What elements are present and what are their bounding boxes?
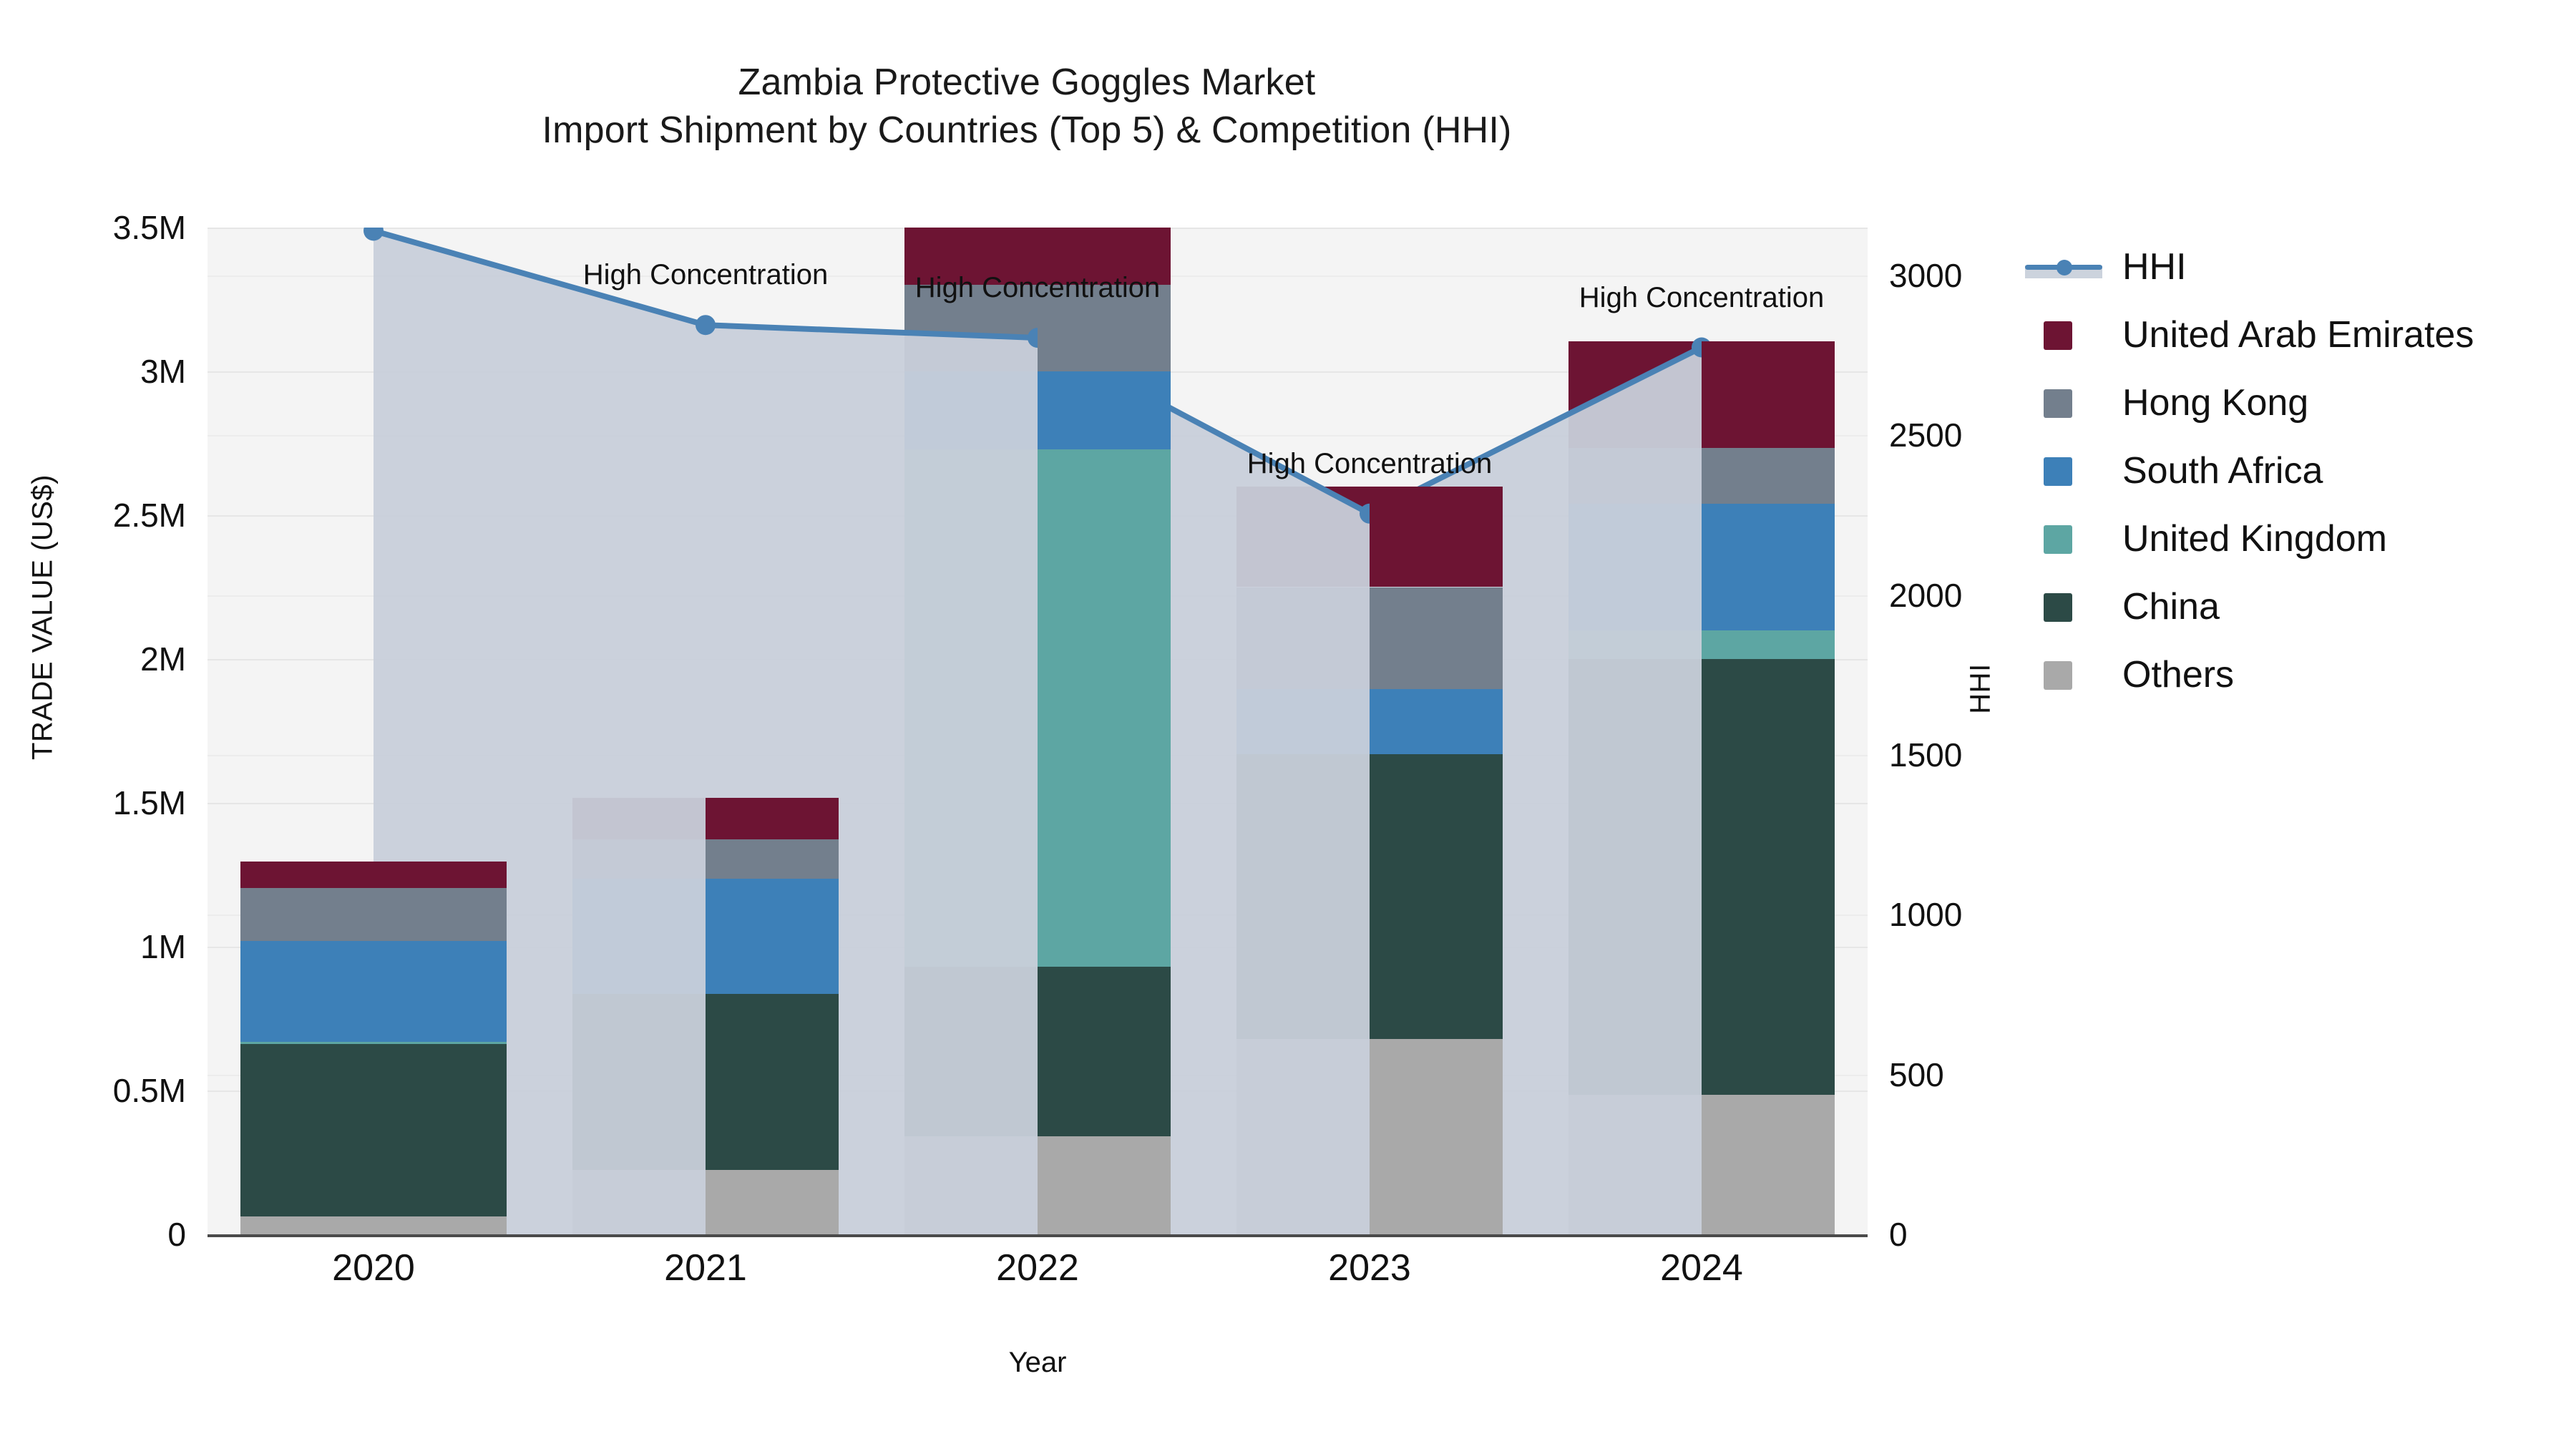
bar-segment-south-africa[interactable] xyxy=(1370,689,1503,753)
y-left-tick: 1.5M xyxy=(113,784,186,822)
legend-item-united-arab-emirates[interactable]: United Arab Emirates xyxy=(2025,301,2569,369)
legend-color-swatch-icon xyxy=(2025,383,2102,423)
y-right-tick: 2000 xyxy=(1889,576,1962,615)
y-left-tick: 2M xyxy=(140,640,186,678)
legend-item-hhi[interactable]: HHI xyxy=(2025,233,2569,301)
x-axis-ticks: 20202021202220232024 xyxy=(208,1246,1868,1311)
y-axis-right-title: HHI xyxy=(1965,618,1997,761)
legend-item-label: Hong Kong xyxy=(2122,381,2308,424)
bar-group-2024[interactable] xyxy=(1702,228,1835,1234)
legend-color-swatch-icon xyxy=(2025,655,2102,695)
legend-item-hong-kong[interactable]: Hong Kong xyxy=(2025,369,2569,436)
plot-area: Very High ConcentrationHigh Concentratio… xyxy=(208,228,1868,1234)
legend-color-swatch-icon xyxy=(2025,519,2102,559)
y-left-tick: 2.5M xyxy=(113,496,186,535)
legend-swatch xyxy=(2044,593,2072,622)
bar-segment-united-kingdom[interactable] xyxy=(374,1042,507,1044)
y-left-tick: 1M xyxy=(140,927,186,966)
bar-segment-south-africa[interactable] xyxy=(1702,504,1835,630)
annotation-label: High Concentration xyxy=(1579,282,1824,314)
x-tick-2022: 2022 xyxy=(996,1246,1079,1289)
bar-segment-others[interactable] xyxy=(374,1216,507,1234)
legend-swatch xyxy=(2044,661,2072,690)
legend-swatch xyxy=(2044,321,2072,350)
x-tick-2020: 2020 xyxy=(332,1246,415,1289)
x-tick-2021: 2021 xyxy=(664,1246,747,1289)
y-right-tick: 3000 xyxy=(1889,256,1962,295)
x-tick-2024: 2024 xyxy=(1660,1246,1743,1289)
bar-segment-china[interactable] xyxy=(706,994,839,1170)
legend-item-united-kingdom[interactable]: United Kingdom xyxy=(2025,504,2569,572)
legend-item-south-africa[interactable]: South Africa xyxy=(2025,436,2569,504)
x-axis-line xyxy=(208,1234,1868,1237)
chart-legend: HHIUnited Arab EmiratesHong KongSouth Af… xyxy=(2025,233,2569,708)
bar-segment-others[interactable] xyxy=(1038,1136,1171,1234)
legend-item-label: United Arab Emirates xyxy=(2122,313,2474,356)
y-left-tick: 3.5M xyxy=(113,208,186,247)
bar-segment-south-africa[interactable] xyxy=(374,941,507,1042)
y-right-tick: 1500 xyxy=(1889,736,1962,774)
y-right-tick: 500 xyxy=(1889,1055,1944,1094)
bar-group-2020[interactable] xyxy=(374,228,507,1234)
legend-color-swatch-icon xyxy=(2025,315,2102,355)
bar-segment-united-arab-emirates[interactable] xyxy=(374,862,507,887)
bar-segment-united-kingdom[interactable] xyxy=(1038,449,1171,967)
bar-segment-united-kingdom[interactable] xyxy=(1702,630,1835,659)
y-right-tick: 2500 xyxy=(1889,416,1962,454)
legend-item-label: South Africa xyxy=(2122,449,2323,492)
legend-swatch xyxy=(2044,389,2072,418)
y-right-tick: 1000 xyxy=(1889,895,1962,934)
legend-item-label: United Kingdom xyxy=(2122,517,2387,560)
y-axis-left-title: TRADE VALUE (US$) xyxy=(27,467,59,768)
bar-segment-hong-kong[interactable] xyxy=(706,839,839,878)
legend-swatch xyxy=(2044,525,2072,554)
bar-segment-south-africa[interactable] xyxy=(706,879,839,994)
bar-segment-china[interactable] xyxy=(374,1044,507,1216)
bar-segment-united-arab-emirates[interactable] xyxy=(1702,341,1835,448)
x-axis-title: Year xyxy=(208,1347,1868,1379)
annotation-label: High Concentration xyxy=(1247,448,1492,480)
chart-figure: Zambia Protective Goggles Market Import … xyxy=(0,0,2576,1449)
bar-segment-united-arab-emirates[interactable] xyxy=(706,798,839,839)
annotation-label: High Concentration xyxy=(915,272,1160,304)
legend-color-swatch-icon xyxy=(2025,587,2102,627)
legend-item-label: Others xyxy=(2122,653,2234,696)
y-left-tick: 0.5M xyxy=(113,1071,186,1110)
bar-segment-hong-kong[interactable] xyxy=(1370,587,1503,690)
legend-line-marker-icon xyxy=(2025,247,2102,287)
chart-title: Zambia Protective Goggles Market Import … xyxy=(0,59,2054,154)
legend-dot-icon xyxy=(2057,260,2072,275)
title-line-1: Zambia Protective Goggles Market xyxy=(0,59,2054,107)
bar-segment-china[interactable] xyxy=(1038,967,1171,1136)
bar-segment-china[interactable] xyxy=(1370,754,1503,1039)
bar-segment-united-arab-emirates[interactable] xyxy=(1370,487,1503,587)
bar-segment-others[interactable] xyxy=(1702,1095,1835,1234)
legend-item-label: China xyxy=(2122,585,2220,628)
legend-swatch xyxy=(2044,457,2072,486)
legend-item-china[interactable]: China xyxy=(2025,572,2569,640)
bar-group-2023[interactable] xyxy=(1370,228,1503,1234)
bar-segment-china[interactable] xyxy=(1702,659,1835,1095)
bar-segment-hong-kong[interactable] xyxy=(374,888,507,941)
x-tick-2023: 2023 xyxy=(1328,1246,1411,1289)
y-left-tick: 0 xyxy=(167,1215,186,1254)
y-left-tick: 3M xyxy=(140,352,186,391)
legend-item-others[interactable]: Others xyxy=(2025,640,2569,708)
annotation-label: High Concentration xyxy=(583,259,828,291)
bar-group-2022[interactable] xyxy=(1038,228,1171,1234)
legend-color-swatch-icon xyxy=(2025,451,2102,491)
bar-segment-hong-kong[interactable] xyxy=(1702,448,1835,504)
title-line-2: Import Shipment by Countries (Top 5) & C… xyxy=(0,107,2054,155)
bar-segment-others[interactable] xyxy=(1370,1039,1503,1234)
plot-inner: Very High ConcentrationHigh Concentratio… xyxy=(208,228,1868,1234)
bar-group-2021[interactable] xyxy=(706,228,839,1234)
bar-segment-south-africa[interactable] xyxy=(1038,371,1171,449)
legend-item-label: HHI xyxy=(2122,245,2187,288)
bar-segment-others[interactable] xyxy=(706,1170,839,1234)
y-right-tick: 0 xyxy=(1889,1215,1908,1254)
